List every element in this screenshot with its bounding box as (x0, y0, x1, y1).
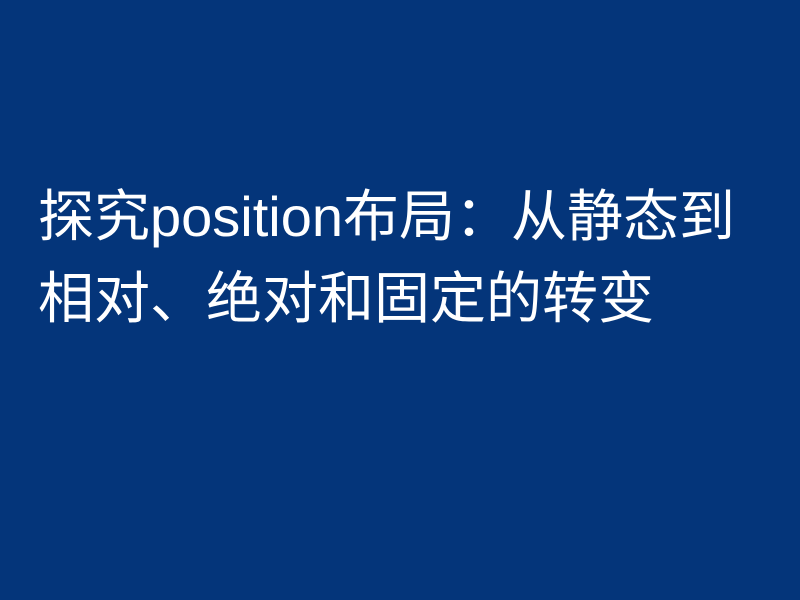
title-block: 探究position布局：从静态到相对、绝对和固定的转变 (38, 176, 778, 340)
title-card-canvas: 探究position布局：从静态到相对、绝对和固定的转变 (0, 0, 800, 600)
page-title: 探究position布局：从静态到相对、绝对和固定的转变 (38, 176, 778, 340)
